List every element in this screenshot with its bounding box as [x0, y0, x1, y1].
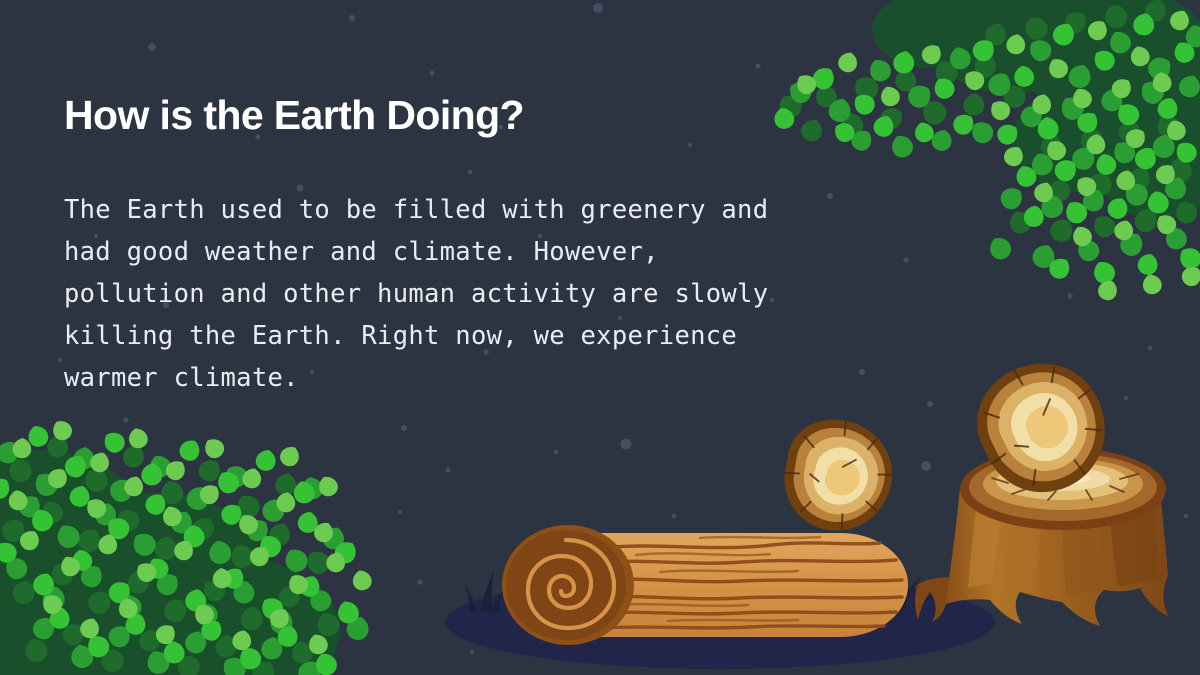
- slide-canvas: How is the Earth Doing? The Earth used t…: [0, 0, 1200, 675]
- log-icon: [502, 525, 908, 645]
- wood-slice-small-icon: [773, 409, 904, 542]
- illustration-layer: [0, 0, 1200, 675]
- foliage-top-right-icon: [772, 0, 1200, 303]
- foliage-bottom-left-icon: [0, 417, 374, 675]
